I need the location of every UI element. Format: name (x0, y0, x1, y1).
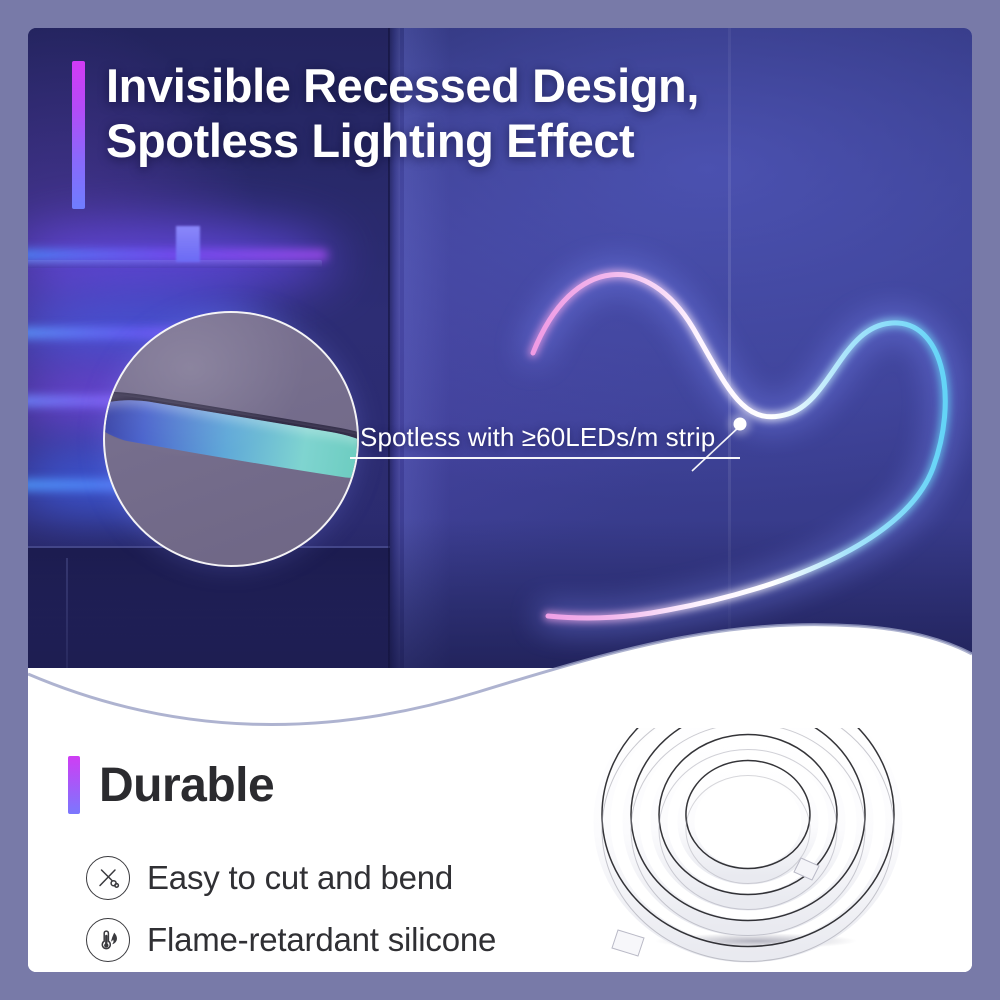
callout-underline (350, 457, 740, 459)
list-item: Easy to cut and bend (86, 856, 496, 900)
durable-accent-bar (68, 756, 80, 814)
callout-label: Spotless with ≥60LEDs/m strip (350, 422, 740, 459)
feature-label: Flame-retardant silicone (147, 921, 496, 959)
hero-scene: Invisible Recessed Design, Spotless Ligh… (28, 28, 972, 668)
scissors-icon (86, 856, 130, 900)
callout-text: Spotless with ≥60LEDs/m strip (350, 422, 740, 457)
wave-divider (28, 588, 972, 728)
poster-root: Invisible Recessed Design, Spotless Ligh… (0, 0, 1000, 1000)
flame-thermometer-icon (86, 918, 130, 962)
poster-card: Invisible Recessed Design, Spotless Ligh… (28, 28, 972, 972)
feature-list: Easy to cut and bend Flame-retardant sil… (86, 856, 496, 972)
feature-label: Easy to cut and bend (147, 859, 453, 897)
magnifier-sheen (105, 313, 357, 565)
page-title: Invisible Recessed Design, Spotless Ligh… (106, 58, 699, 169)
durable-heading-block: Durable (68, 756, 274, 814)
hero-headline-block: Invisible Recessed Design, Spotless Ligh… (72, 58, 699, 209)
magnifier-closeup (103, 311, 359, 567)
headline-accent-bar (72, 61, 85, 209)
list-item: Flame-retardant silicone (86, 918, 496, 962)
section-title: Durable (99, 758, 274, 813)
